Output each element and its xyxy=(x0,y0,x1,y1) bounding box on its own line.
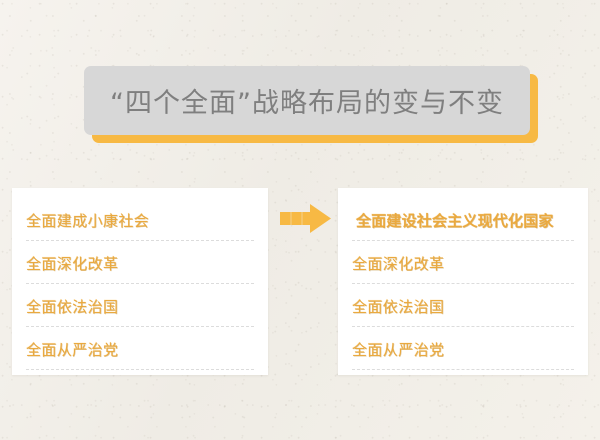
panel-before: 全面建成小康社会 全面深化改革 全面依法治国 全面从严治党 xyxy=(12,188,268,375)
item-divider xyxy=(26,369,254,370)
list-item: 全面依法治国 xyxy=(26,292,254,335)
before-item-label-3: 全面依法治国 xyxy=(26,296,118,317)
list-item: 全面深化改革 xyxy=(352,249,574,292)
after-item-list: 全面建设社会主义现代化国家 全面深化改革 全面依法治国 全面从严治党 xyxy=(338,188,588,378)
title-banner: “四个全面”战略布局的变与不变 xyxy=(84,66,530,135)
item-divider xyxy=(352,283,574,284)
list-item: 全面从严治党 xyxy=(352,335,574,378)
panel-after: 全面建设社会主义现代化国家 全面深化改革 全面依法治国 全面从严治党 xyxy=(338,188,588,375)
before-item-label-1: 全面建成小康社会 xyxy=(26,210,149,231)
list-item: 全面依法治国 xyxy=(352,292,574,335)
item-divider xyxy=(352,369,574,370)
arrow-right-icon xyxy=(280,204,331,233)
item-divider xyxy=(352,240,574,241)
list-item: 全面深化改革 xyxy=(26,249,254,292)
item-divider xyxy=(26,326,254,327)
before-item-list: 全面建成小康社会 全面深化改革 全面依法治国 全面从严治党 xyxy=(12,188,268,378)
list-item: 全面从严治党 xyxy=(26,335,254,378)
item-divider xyxy=(26,240,254,241)
after-item-label-4: 全面从严治党 xyxy=(352,339,444,360)
list-item: 全面建成小康社会 xyxy=(26,206,254,249)
after-item-label-2: 全面深化改革 xyxy=(352,253,444,274)
item-divider xyxy=(26,283,254,284)
after-item-label-3: 全面依法治国 xyxy=(352,296,444,317)
page-title: “四个全面”战略布局的变与不变 xyxy=(110,81,504,120)
after-item-label-1: 全面建设社会主义现代化国家 xyxy=(352,210,554,231)
list-item: 全面建设社会主义现代化国家 xyxy=(352,206,574,249)
before-item-label-2: 全面深化改革 xyxy=(26,253,118,274)
item-divider xyxy=(352,326,574,327)
title-plate: “四个全面”战略布局的变与不变 xyxy=(84,66,530,135)
before-item-label-4: 全面从严治党 xyxy=(26,339,118,360)
